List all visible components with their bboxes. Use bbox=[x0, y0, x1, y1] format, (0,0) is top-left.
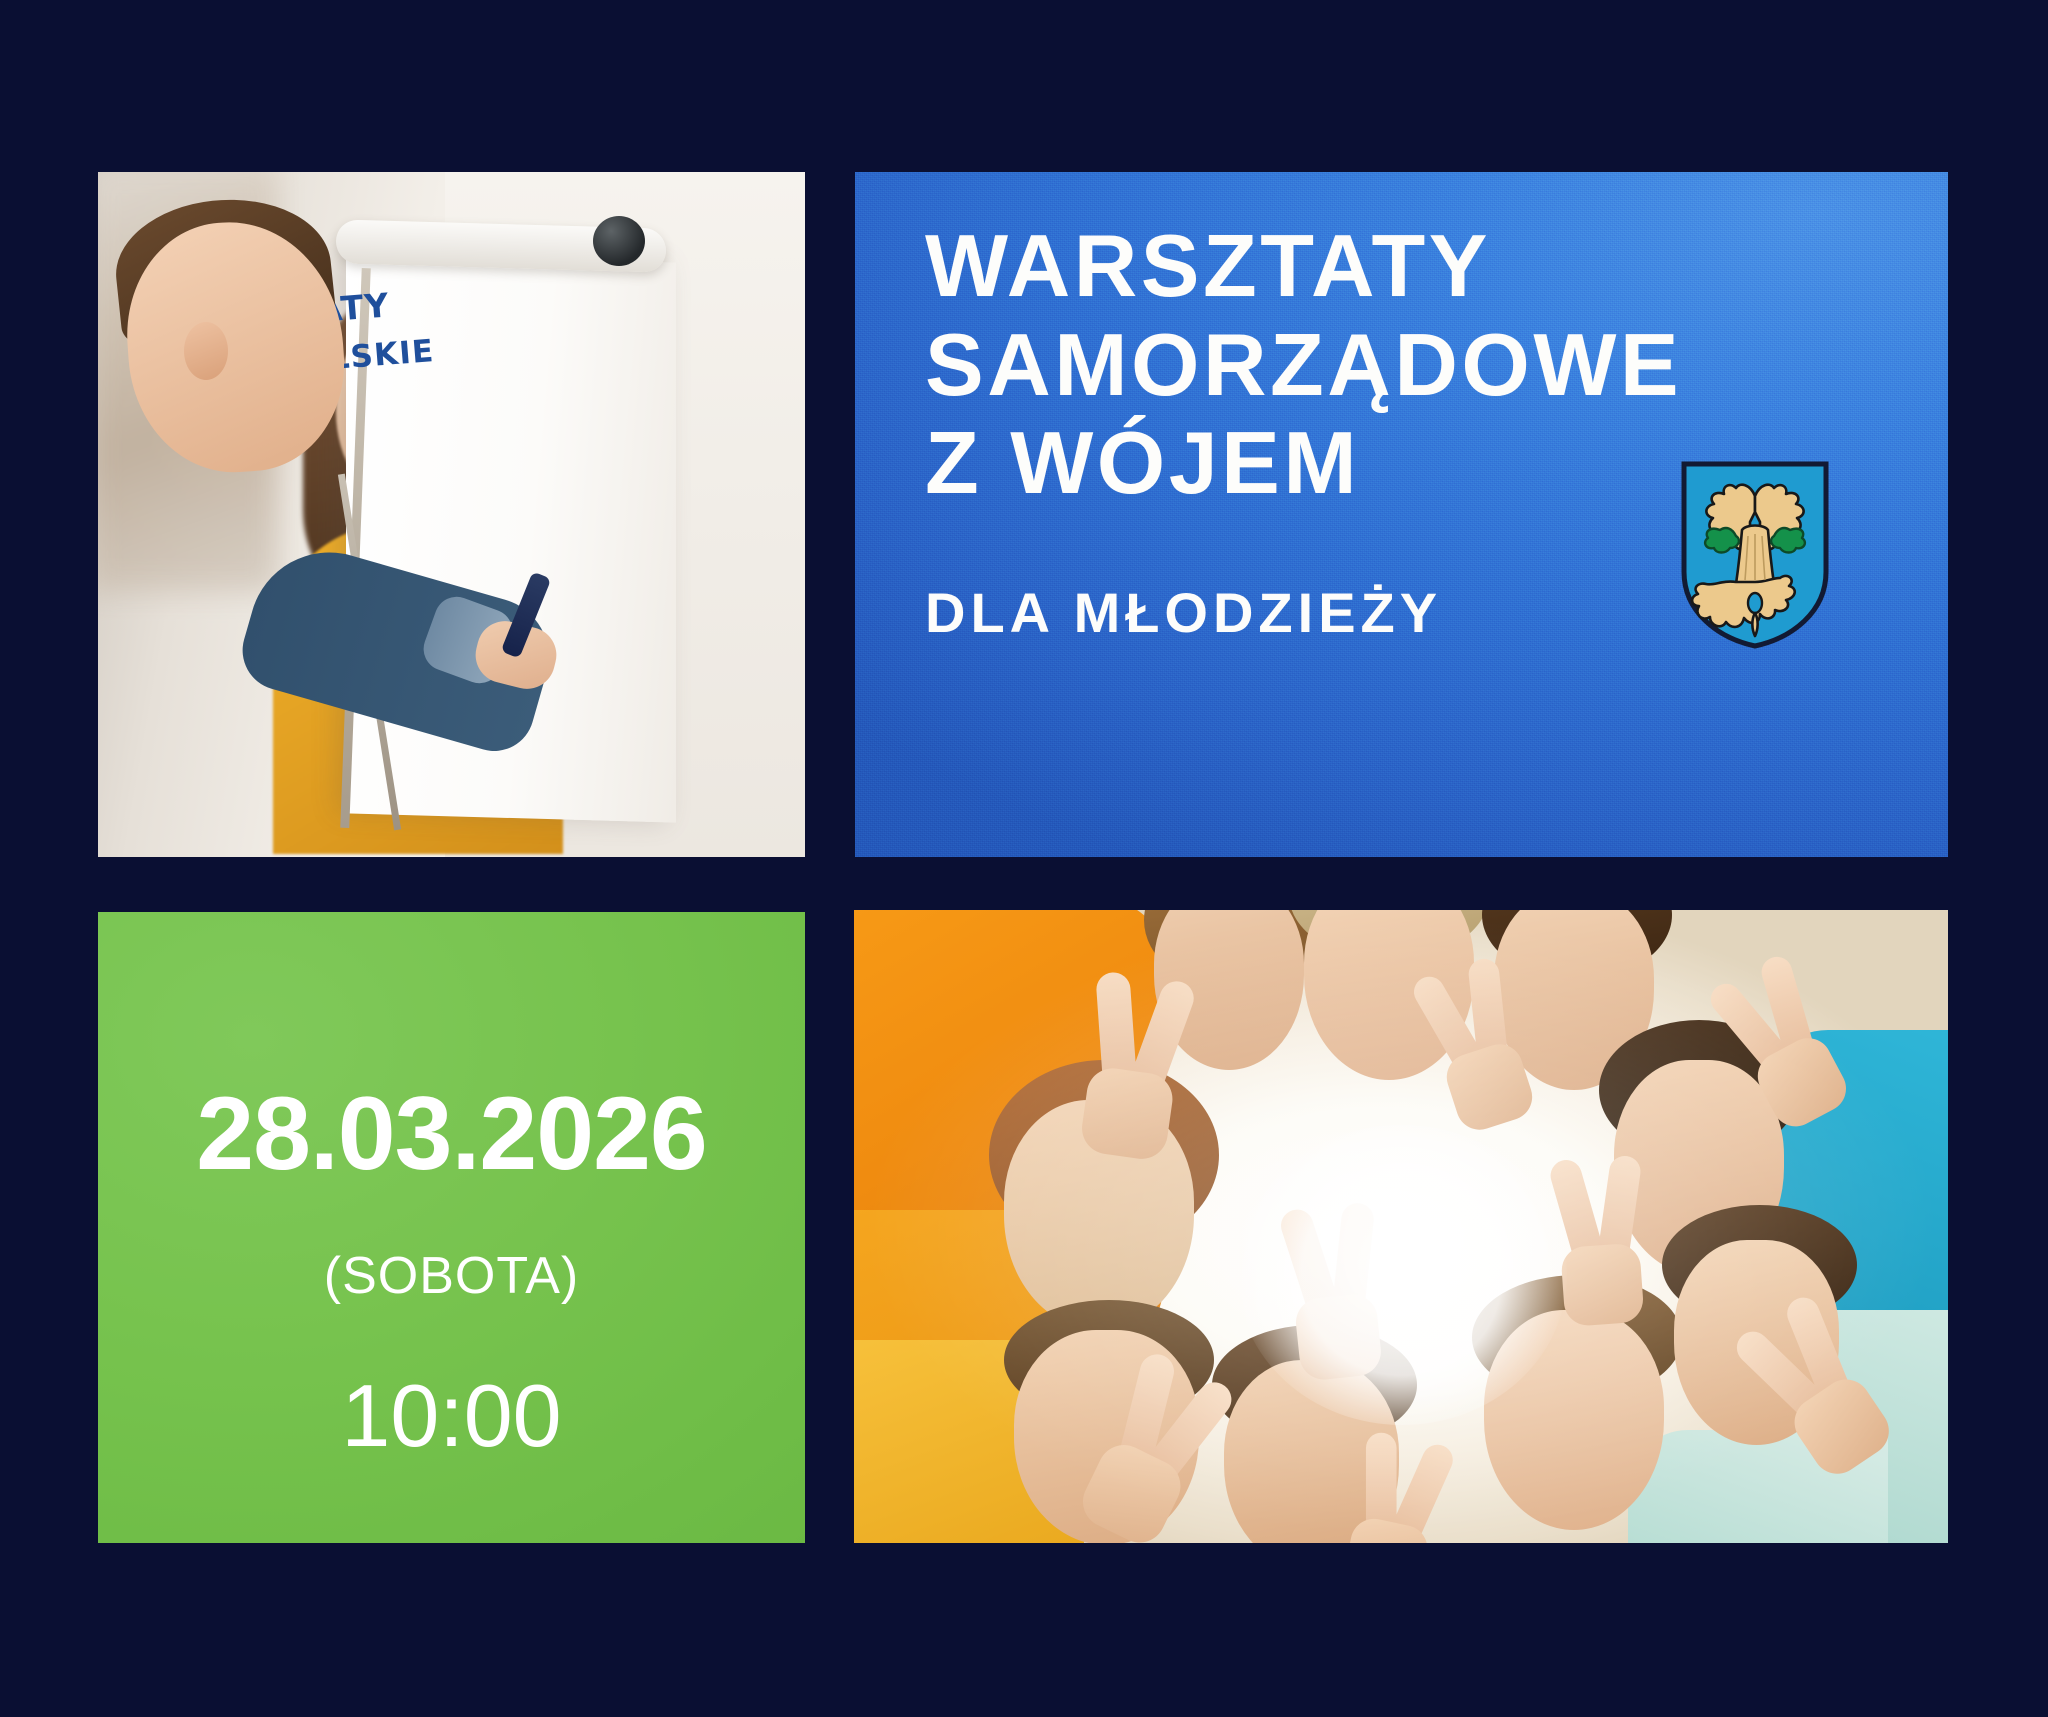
teen-8-face bbox=[1484, 1310, 1664, 1530]
poster-canvas: WARSZTATY OBYWATELSKIE WARSZTATY SAMORZĄ… bbox=[0, 0, 2048, 1717]
event-weekday: (SOBOTA) bbox=[324, 1250, 579, 1302]
photo-flipchart-workshop: WARSZTATY OBYWATELSKIE bbox=[98, 172, 805, 857]
event-date: 28.03.2026 bbox=[196, 1082, 707, 1186]
flipchart-knob bbox=[593, 216, 645, 266]
event-time: 10:00 bbox=[341, 1372, 561, 1460]
page-subtitle: DLA MŁODZIEŻY bbox=[925, 582, 1442, 644]
headline-panel: WARSZTATY SAMORZĄDOWE Z WÓJEM DLA MŁODZI… bbox=[855, 172, 1948, 857]
coat-of-arms-icon bbox=[1680, 460, 1830, 650]
date-panel: 28.03.2026 (SOBOTA) 10:00 bbox=[98, 912, 805, 1543]
man-ear bbox=[184, 322, 228, 380]
photo-teens-circle bbox=[854, 910, 1948, 1543]
